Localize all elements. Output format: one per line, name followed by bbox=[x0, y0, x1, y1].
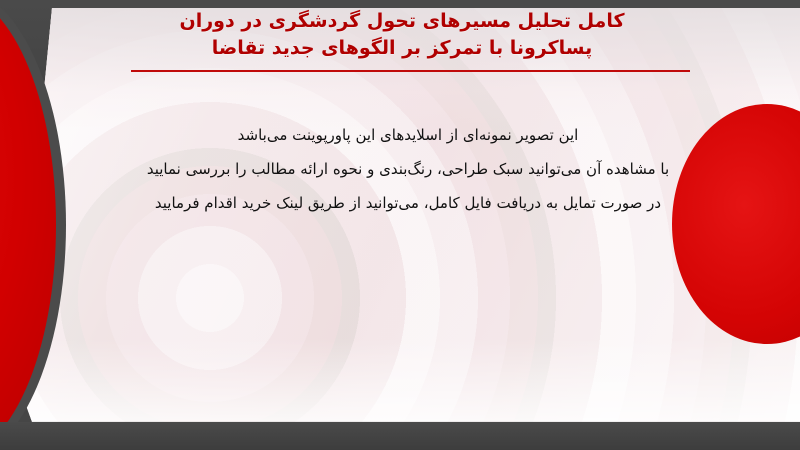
slide-body-text: این تصویر نمونه‌ای از اسلایدهای این پاور… bbox=[112, 118, 704, 220]
slide-body-line-2: با مشاهده آن می‌توانید سبک طراحی، رنگ‌بن… bbox=[112, 152, 704, 186]
slide-title-line-1: کامل تحلیل مسیرهای تحول گردشگری در دوران bbox=[100, 8, 704, 35]
slide-title: کامل تحلیل مسیرهای تحول گردشگری در دوران… bbox=[100, 8, 704, 62]
title-underline-rule bbox=[131, 70, 690, 72]
slide-title-line-2: پساکرونا با تمرکز بر الگوهای جدید تقاضا bbox=[100, 35, 704, 62]
presentation-slide: کامل تحلیل مسیرهای تحول گردشگری در دوران… bbox=[0, 0, 800, 450]
background-bottom-shading bbox=[0, 338, 800, 428]
slide-body-line-1: این تصویر نمونه‌ای از اسلایدهای این پاور… bbox=[112, 118, 704, 152]
slide-body-line-3: در صورت تمایل به دریافت فایل کامل، می‌تو… bbox=[112, 186, 704, 220]
bottom-dark-band bbox=[0, 422, 800, 450]
